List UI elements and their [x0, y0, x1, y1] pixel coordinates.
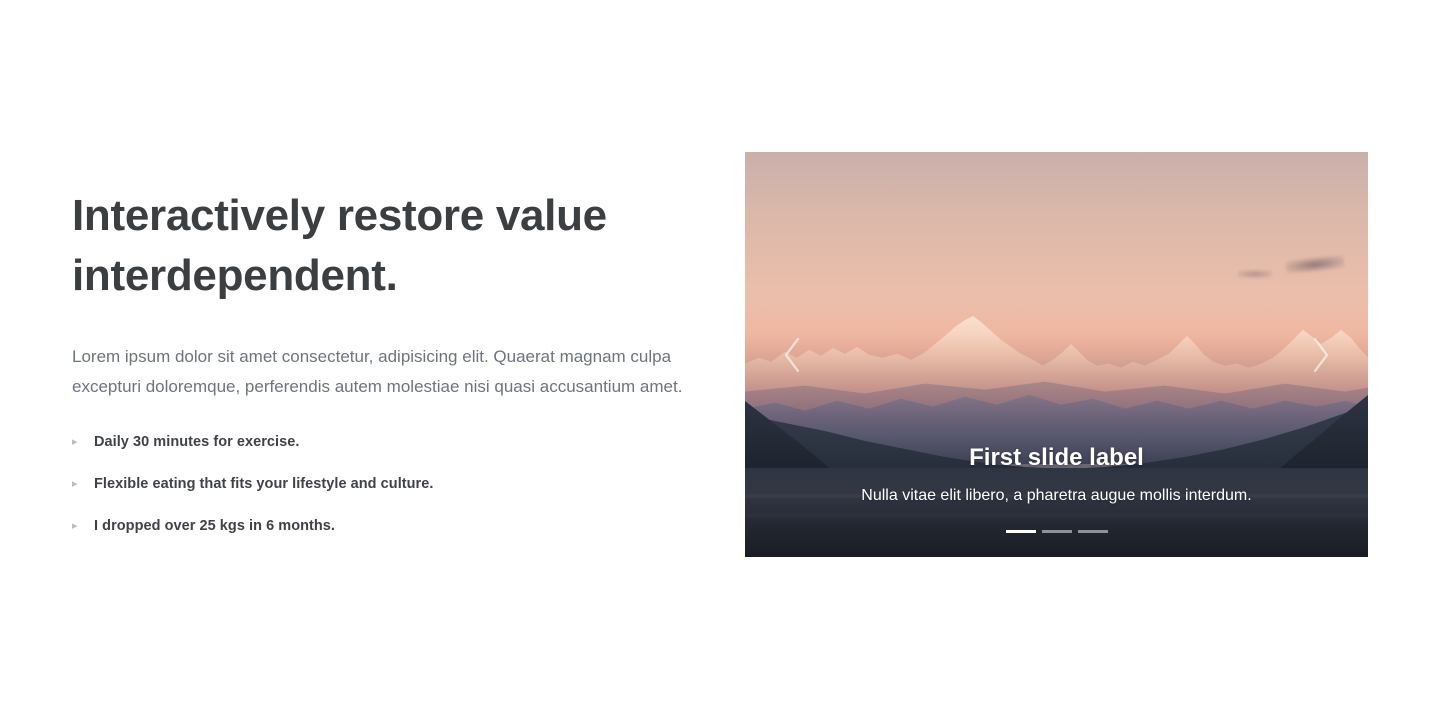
carousel-indicator-1[interactable] [1006, 530, 1036, 533]
carousel-indicator-2[interactable] [1042, 530, 1072, 533]
chevron-left-icon [779, 335, 805, 375]
list-item-label: I dropped over 25 kgs in 6 months. [94, 516, 335, 536]
carousel-caption-title: First slide label [838, 443, 1274, 473]
caret-right-icon: ▸ [72, 516, 94, 536]
caret-right-icon: ▸ [72, 474, 94, 494]
cloud-icon [1238, 270, 1272, 278]
page-title: Interactively restore value interdepende… [72, 186, 632, 306]
content-column: Interactively restore value interdepende… [72, 186, 692, 536]
page-root: Interactively restore value interdepende… [0, 0, 1440, 720]
list-item: ▸ Daily 30 minutes for exercise. [72, 432, 692, 452]
carousel-indicators [838, 530, 1274, 533]
carousel[interactable]: First slide label Nulla vitae elit liber… [745, 152, 1368, 557]
carousel-caption-text: Nulla vitae elit libero, a pharetra augu… [838, 485, 1274, 507]
list-item: ▸ I dropped over 25 kgs in 6 months. [72, 516, 692, 536]
caret-right-icon: ▸ [72, 432, 94, 452]
carousel-next-button[interactable] [1275, 152, 1368, 557]
feature-list: ▸ Daily 30 minutes for exercise. ▸ Flexi… [72, 432, 692, 536]
chevron-right-icon [1308, 335, 1334, 375]
list-item: ▸ Flexible eating that fits your lifesty… [72, 474, 692, 494]
list-item-label: Daily 30 minutes for exercise. [94, 432, 299, 452]
carousel-caption: First slide label Nulla vitae elit liber… [838, 443, 1274, 507]
list-item-label: Flexible eating that fits your lifestyle… [94, 474, 433, 494]
intro-paragraph: Lorem ipsum dolor sit amet consectetur, … [72, 342, 692, 402]
carousel-prev-button[interactable] [745, 152, 838, 557]
carousel-indicator-3[interactable] [1078, 530, 1108, 533]
